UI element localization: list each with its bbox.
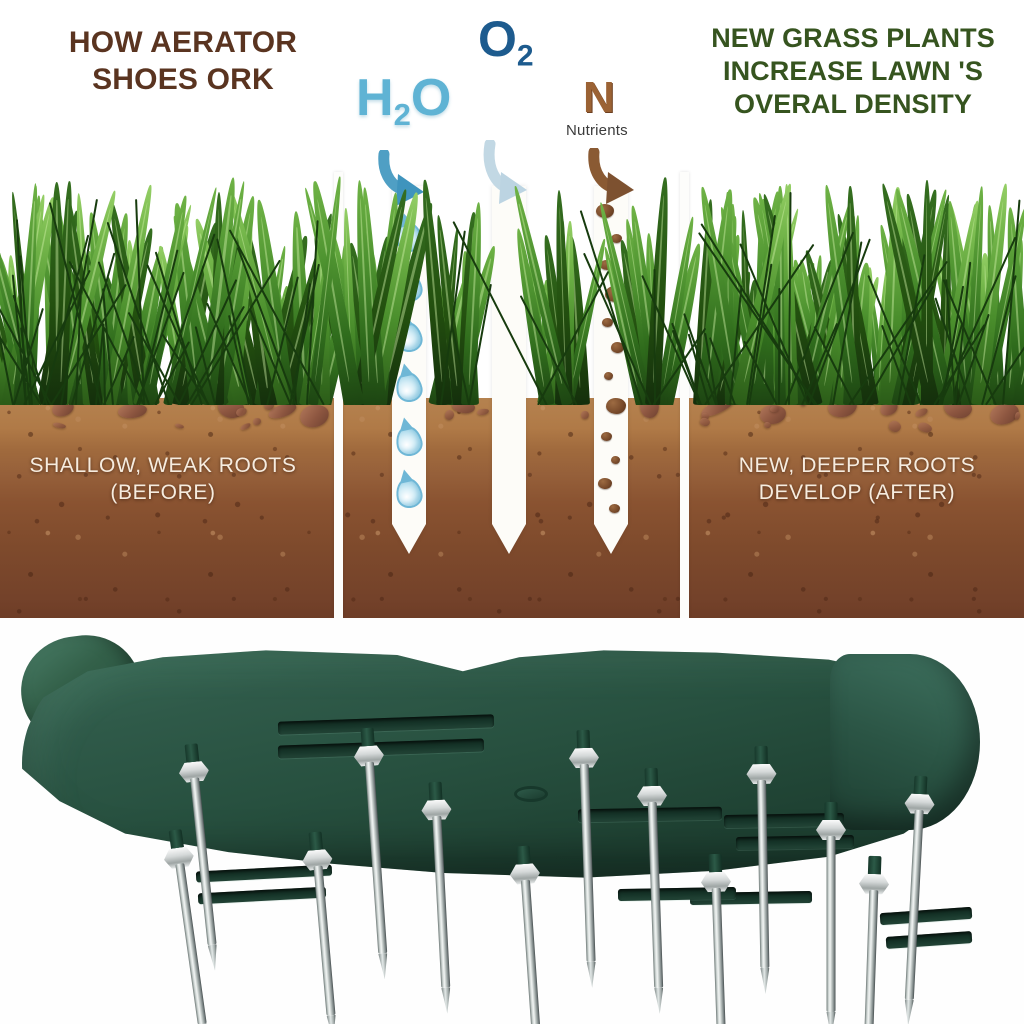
spike-tip (327, 1015, 338, 1024)
page-title-left-line2: SHOES ORK (18, 61, 348, 98)
nutrient-granule (611, 456, 620, 464)
spike-shank (905, 810, 924, 1000)
spike-shank (827, 836, 836, 1012)
water-formula-label: H2O (356, 72, 451, 130)
page-title-right-line1: NEW GRASS PLANTS (690, 22, 1016, 55)
spike-shank (521, 880, 541, 1024)
spike-shank (712, 888, 726, 1024)
page-title-left-line1: HOW AERATOR (18, 24, 348, 61)
soil-clod (917, 420, 933, 434)
soil-clod (477, 408, 489, 416)
spike-tip (441, 987, 451, 1013)
nutrient-granule (609, 504, 620, 513)
soil-clod (252, 417, 262, 426)
nutrient-granule (602, 318, 613, 327)
soil-clod (175, 423, 185, 429)
spike-tip (208, 944, 220, 971)
nutrient-channel-tip (594, 524, 628, 554)
nutrient-granule (606, 398, 626, 414)
spike-tip (587, 962, 597, 988)
oxygen-channel-tip (492, 524, 526, 554)
page-title-right: NEW GRASS PLANTS INCREASE LAWN 'S OVERAL… (690, 22, 1016, 121)
soil-clod (699, 417, 710, 427)
sole-vent-slot (880, 907, 973, 925)
nutrient-down-arrow (588, 148, 642, 215)
sole-vent-slot (886, 931, 973, 949)
nutrient-caption-label: Nutrients (566, 122, 628, 139)
product-photo-aerator-shoe (0, 618, 1024, 1024)
nutrient-symbol-label: N (583, 76, 615, 120)
soil-clod (580, 410, 589, 419)
soil-clod (444, 410, 455, 422)
soil-clod (240, 422, 252, 432)
spike-tip (760, 968, 769, 994)
water-formula-subscript: 2 (394, 97, 411, 132)
water-formula-o: O (411, 69, 451, 127)
soil-clod (914, 407, 929, 419)
oxygen-formula-subscript: 2 (517, 40, 534, 73)
spike-tip (827, 1012, 836, 1024)
aeration-infographic-panel: SHALLOW, WEAK ROOTS (BEFORE) NEW, DEEPER… (0, 0, 1024, 618)
infographic-page: SHALLOW, WEAK ROOTS (BEFORE) NEW, DEEPER… (0, 0, 1024, 1024)
page-title-right-line3: OVERAL DENSITY (690, 88, 1016, 121)
soil-clod (53, 422, 67, 430)
water-formula-h: H (356, 69, 394, 127)
spike-shank (313, 865, 335, 1015)
page-title-right-line2: INCREASE LAWN 'S (690, 55, 1016, 88)
oxygen-formula-o: O (478, 11, 517, 67)
soil-clod (763, 421, 771, 429)
nutrient-granule (604, 372, 613, 380)
page-title-left: HOW AERATOR SHOES ORK (18, 24, 348, 98)
sole-vent-slot (198, 887, 326, 905)
soil-clod (1014, 411, 1021, 420)
strap-eyelet (514, 786, 548, 802)
spike-tip (654, 988, 664, 1014)
spike-tip (903, 999, 913, 1024)
water-channel-tip (392, 524, 426, 554)
oxygen-down-arrow (482, 140, 536, 215)
nutrient-granule (601, 432, 612, 441)
soil-clod (887, 419, 902, 433)
spike-tip (378, 953, 389, 980)
aerator-spike (860, 855, 890, 856)
oxygen-formula-label: O2 (478, 14, 534, 72)
spike-shank (864, 890, 879, 1024)
soil-pebble (298, 402, 331, 430)
nutrient-granule (598, 478, 612, 489)
